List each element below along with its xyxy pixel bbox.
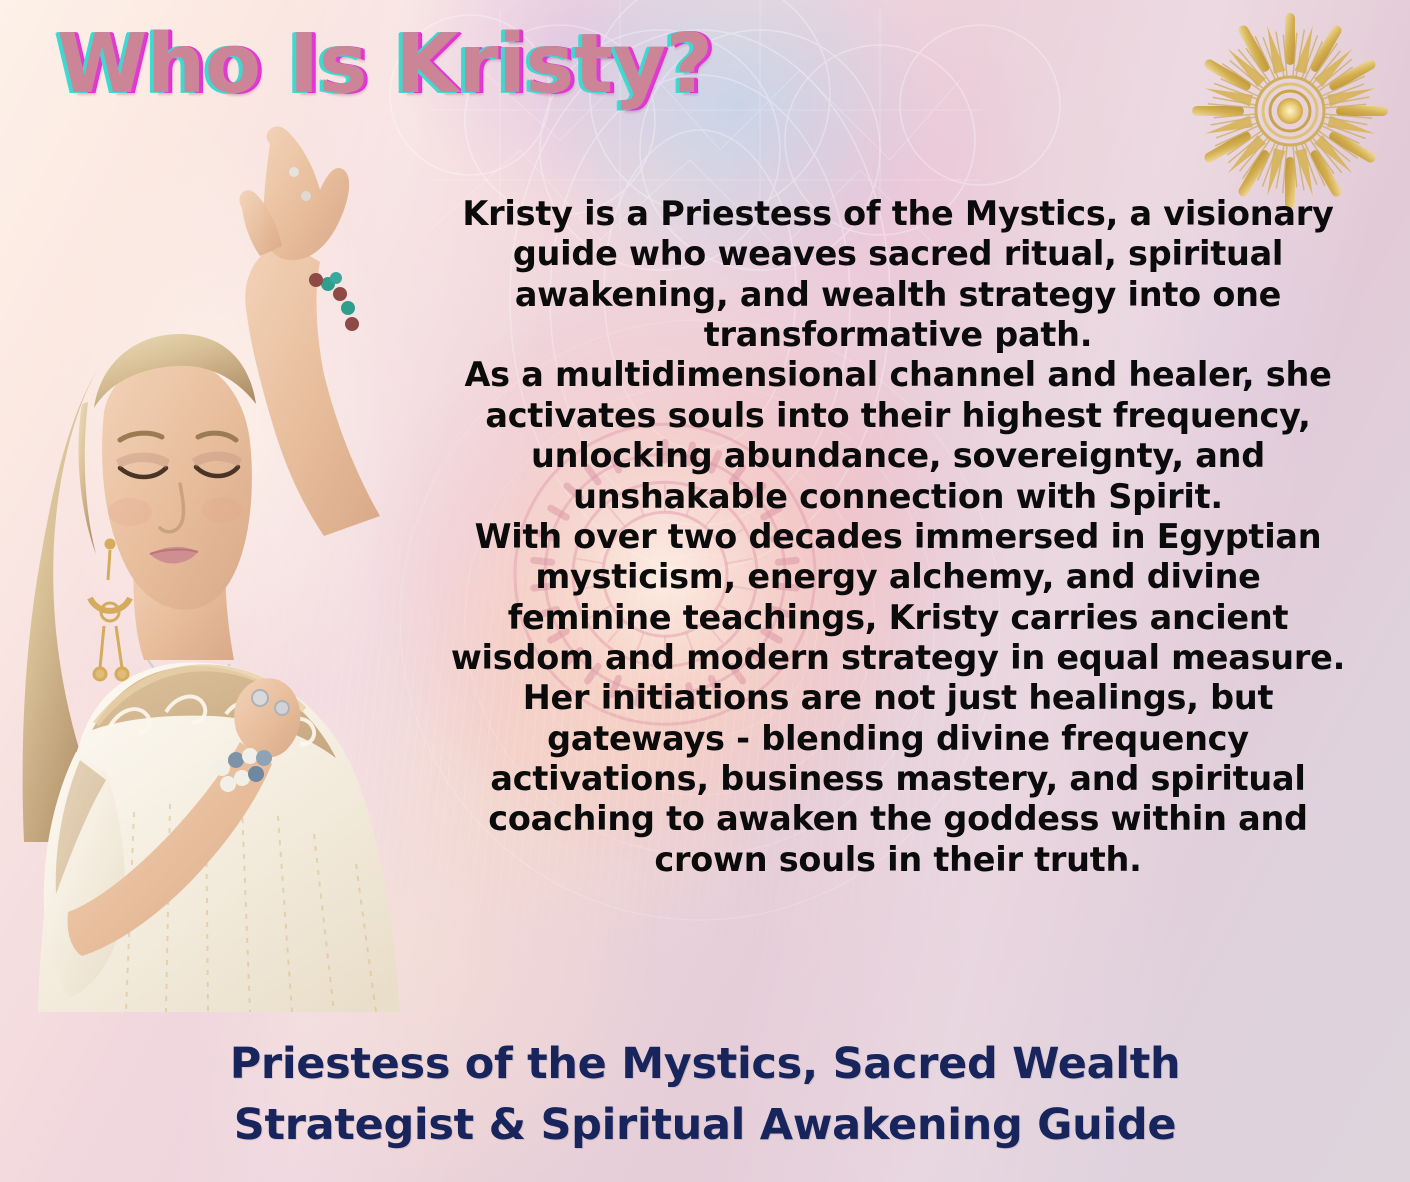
body-paragraph-1: Kristy is a Priestess of the Mystics, a … [448,194,1348,355]
poster-canvas: Who Is Kristy? [0,0,1410,1182]
kristy-portrait-photo [0,112,454,1012]
face [78,334,256,610]
body-paragraph-2: As a multidimensional channel and healer… [448,355,1348,516]
sunburst-ornament-icon [1184,8,1396,214]
tagline-line-2: Strategist & Spiritual Awakening Guide [234,1095,1176,1156]
tagline-line-1: Priestess of the Mystics, Sacred Wealth [230,1034,1181,1095]
raised-arm [239,127,380,536]
tagline-banner: Priestess of the Mystics, Sacred Wealth … [0,1008,1410,1182]
body-copy: Kristy is a Priestess of the Mystics, a … [448,194,1348,880]
page-title: Who Is Kristy? [57,24,713,106]
body-paragraph-3: With over two decades immersed in Egypti… [448,517,1348,880]
